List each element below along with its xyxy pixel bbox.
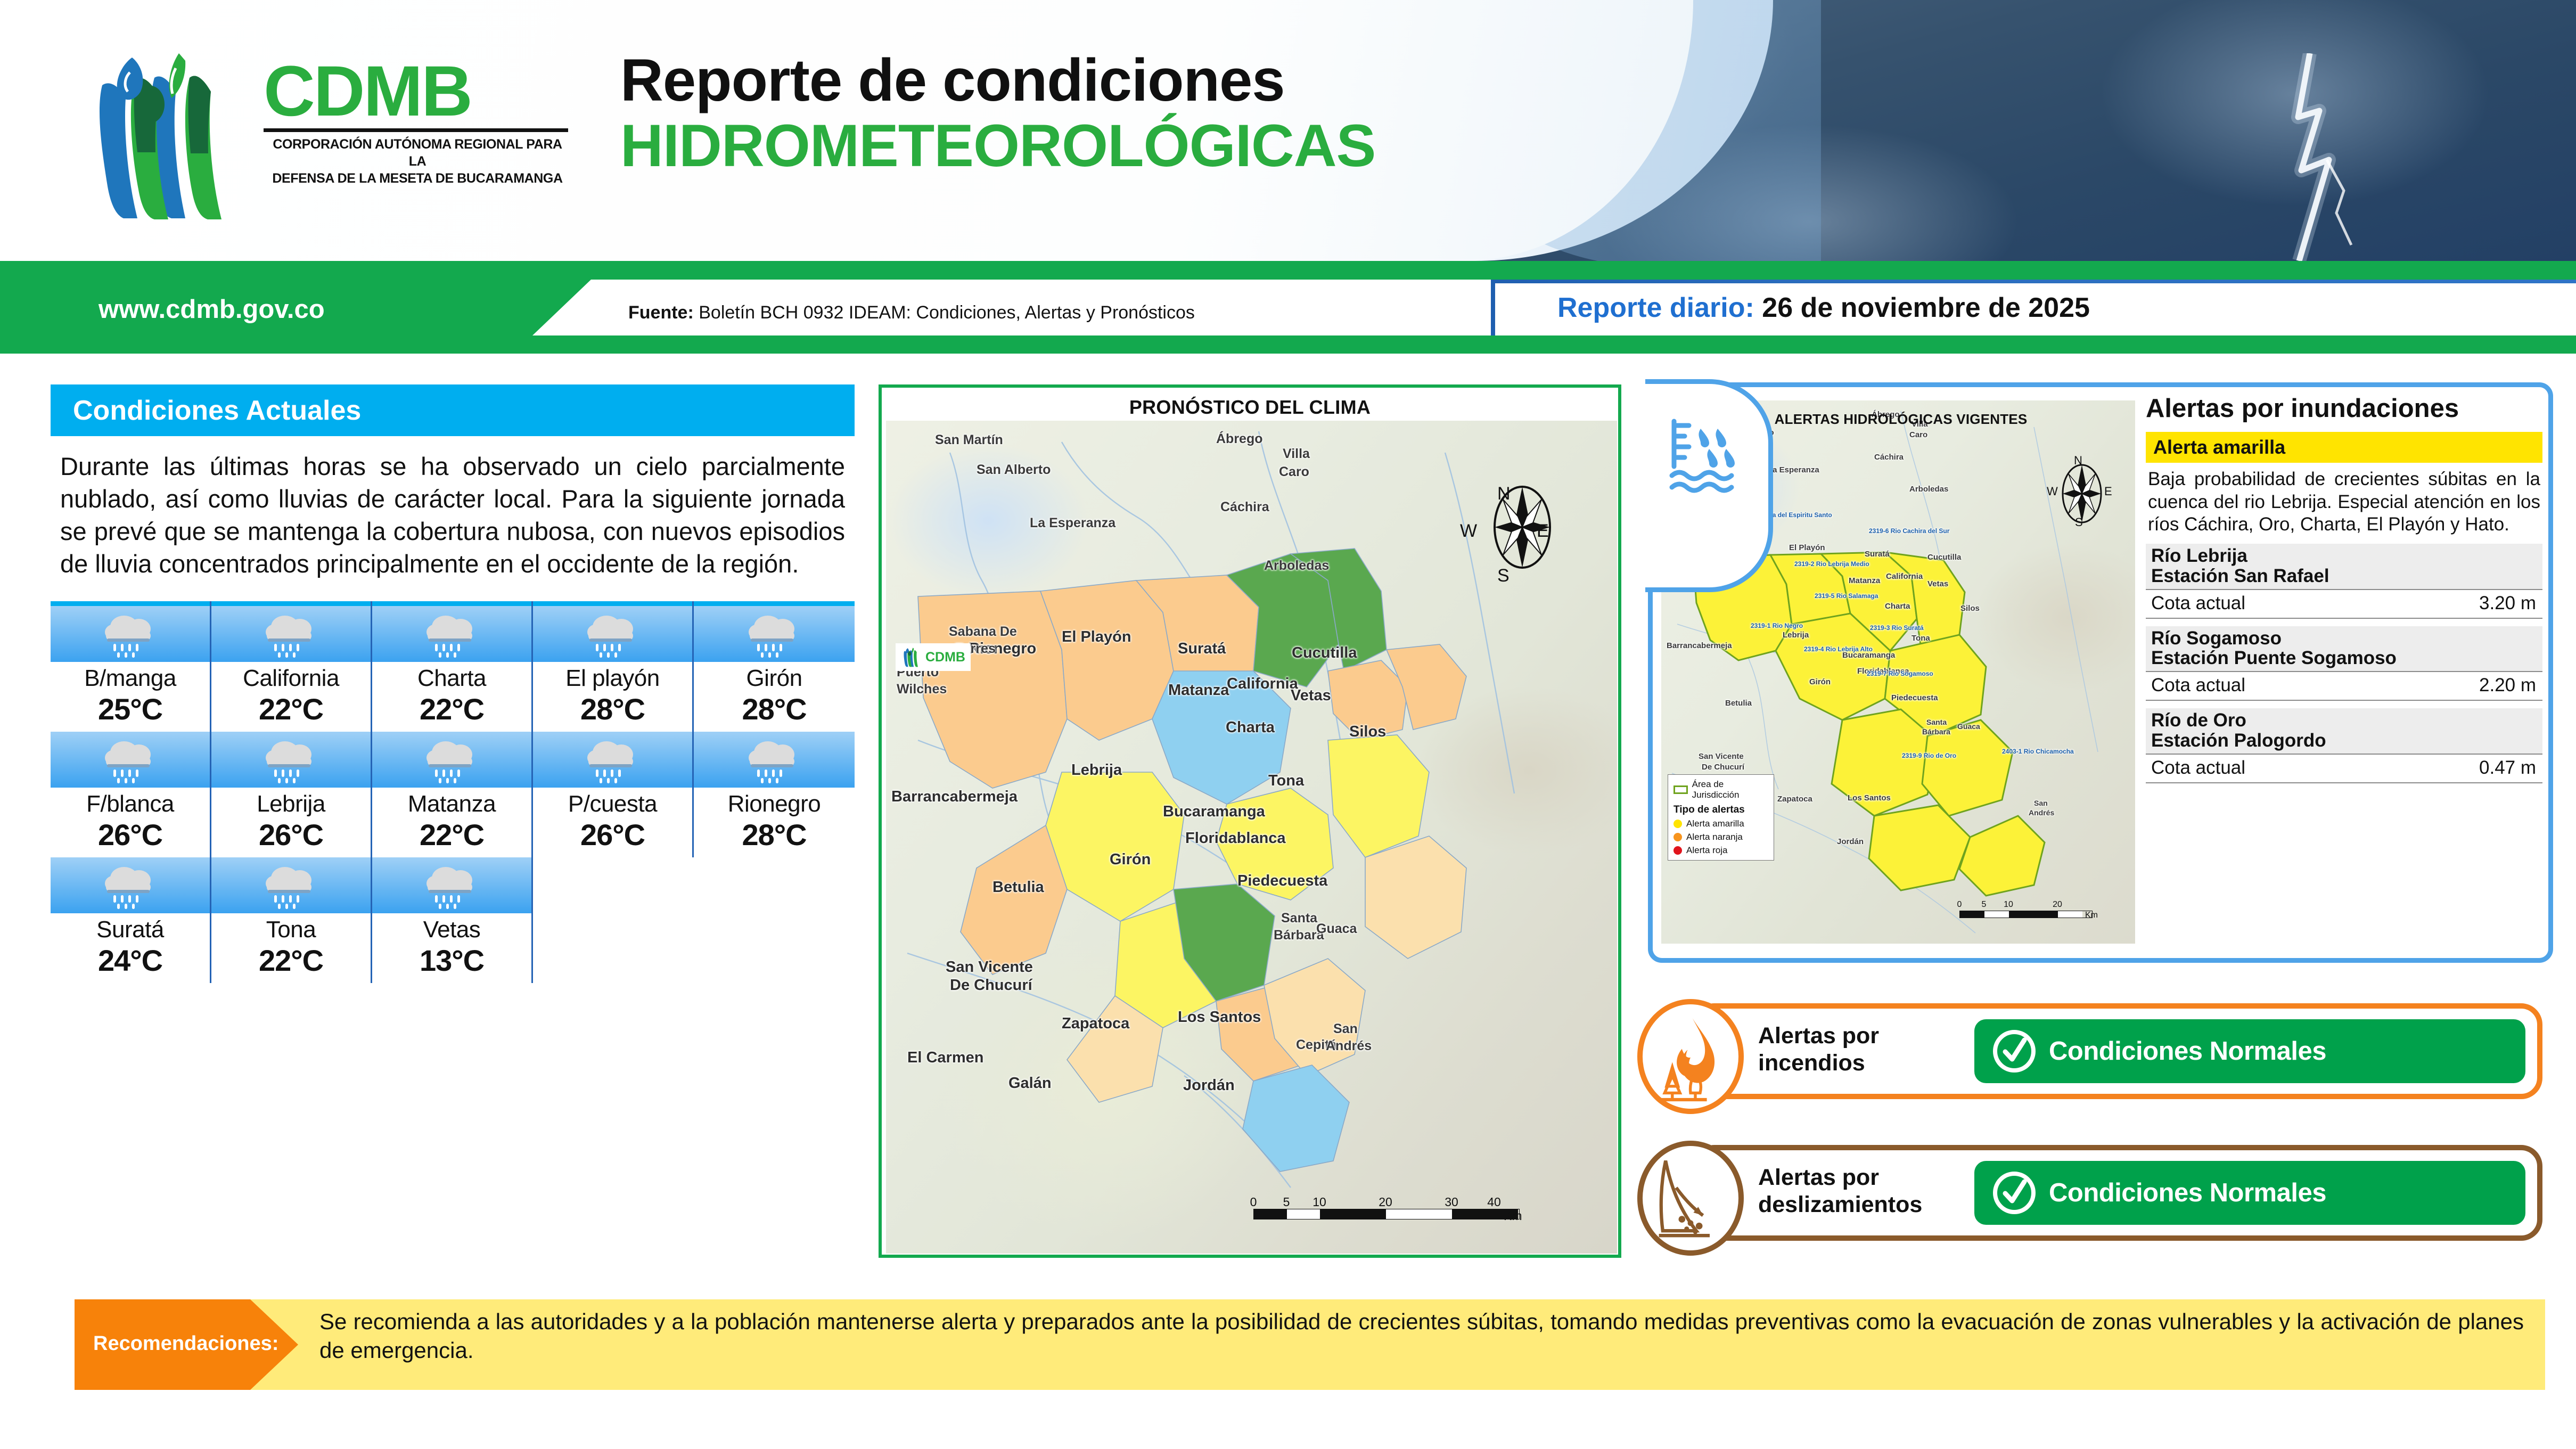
source-text: Boletín BCH 0932 IDEAM: Condiciones, Ale… — [699, 302, 1195, 323]
temperature-cell[interactable]: Lebrija26°C — [211, 732, 372, 857]
map-label: Arboledas — [1909, 485, 1948, 494]
rain-cloud-icon — [102, 862, 159, 909]
map-label: Girón — [1809, 677, 1831, 686]
logo-subtitle-line2: DEFENSA DE LA MESETA DE BUCARAMANGA — [264, 170, 571, 187]
report-date-label: Reporte diario: — [1557, 292, 1754, 323]
map-label: Tona — [1268, 772, 1304, 790]
cdmb-logo-mark — [75, 47, 258, 223]
temperature-row: B/manga25°C California22°C Charta22°C El… — [51, 601, 855, 732]
temperature-cell[interactable]: Charta22°C — [372, 601, 533, 732]
river-name: Río Lebrija — [2151, 546, 2537, 566]
map-label: Lebrija — [1783, 631, 1809, 640]
temperature-value: 22°C — [211, 943, 371, 983]
map-label: San Martín — [935, 432, 1003, 448]
map-label: Caro — [1909, 430, 1927, 439]
map-label: Sabana De — [949, 624, 1017, 640]
scale-tick: 10 — [2004, 900, 2013, 910]
map-label: Los Santos — [1178, 1009, 1261, 1026]
climate-forecast-map[interactable]: PRONÓSTICO DEL CLIMA — [879, 384, 1621, 1258]
basin-label: 2319-1 Rio Negro — [1751, 622, 1803, 629]
cdmb-logo: CDMB CORPORACIÓN AUTÓNOMA REGIONAL PARA … — [75, 42, 586, 225]
map-label: Bárbara — [1922, 727, 1950, 736]
temperature-location: Rionegro — [694, 788, 855, 817]
map-label: Vetas — [1927, 579, 1948, 588]
fire-alert-label-line1: Alertas por — [1758, 1022, 1879, 1050]
map-label: Cáchira — [1874, 453, 1904, 462]
landslide-status-badge: Condiciones Normales — [1974, 1161, 2525, 1225]
rain-cloud-icon — [262, 736, 320, 783]
river-station-block: Río Sogamoso Estación Puente Sogamoso Co… — [2146, 626, 2542, 701]
flood-alert-description: Baja probabilidad de crecientes súbitas … — [2146, 463, 2542, 536]
landslide-alert-label-line2: deslizamientos — [1758, 1191, 1922, 1218]
scale-tick: 10 — [1312, 1195, 1326, 1209]
temperature-value: 28°C — [694, 692, 855, 732]
map-label: Caro — [1279, 464, 1309, 480]
map-label: Galán — [1008, 1075, 1052, 1092]
river-metric-value: 0.47 m — [2479, 757, 2536, 779]
temperature-cell-empty — [533, 857, 694, 983]
map-label: Villa — [1283, 446, 1310, 462]
climate-map-title: PRONÓSTICO DEL CLIMA — [882, 388, 1618, 424]
temperature-location: Lebrija — [211, 788, 371, 817]
legend-types-title: Tipo de alertas — [1673, 804, 1768, 816]
compass-e-label: E — [2104, 485, 2112, 498]
map-label: Andrés — [2029, 808, 2054, 817]
map-label: Guaca — [1316, 921, 1357, 937]
map-label: California — [1227, 675, 1298, 693]
river-station: Estación Puente Sogamoso — [2151, 648, 2537, 668]
temperature-cell[interactable]: Tona22°C — [211, 857, 372, 983]
temperature-value: 22°C — [372, 692, 531, 732]
map-label: El Playón — [1062, 628, 1131, 646]
landslide-alert-label: Alertas por deslizamientos — [1758, 1164, 1922, 1218]
report-date-value: 26 de noviembre de 2025 — [1762, 292, 2090, 323]
scale-tick: 5 — [1982, 900, 1987, 910]
check-circle-icon — [1991, 1028, 2037, 1074]
map-label: Charta — [1885, 602, 1910, 611]
map-label: Lebrija — [1071, 762, 1122, 779]
map-label: Tona — [1912, 634, 1930, 643]
map-label: Andrés — [1326, 1038, 1372, 1054]
temperature-location: P/cuesta — [533, 788, 692, 817]
recommendations-text: Se recomienda a las autoridades y a la p… — [319, 1307, 2524, 1365]
map-label: Betulia — [1725, 699, 1752, 708]
title-line-1: Reporte de condiciones — [620, 51, 1375, 110]
temperature-value: 22°C — [372, 817, 531, 857]
landslide-icon-circle — [1637, 1141, 1744, 1256]
map-label: California — [1886, 572, 1923, 581]
map-label: La Esperanza — [1768, 465, 1819, 474]
temperature-value: 26°C — [51, 817, 210, 857]
temperature-cell[interactable]: B/manga25°C — [51, 601, 211, 732]
temperature-cell-empty — [694, 857, 855, 983]
legend-dot-red-icon — [1673, 846, 1682, 855]
temperature-location: Girón — [694, 662, 855, 692]
basin-label: 2319-2 Rio Lebrija Medio — [1794, 560, 1869, 568]
scale-unit: Km — [1504, 1209, 1522, 1223]
map-label: Charta — [1226, 719, 1275, 736]
fire-icon — [1643, 1004, 1738, 1109]
map-label: Barrancabermeja — [891, 788, 1018, 806]
map-label: Matanza — [1168, 682, 1229, 699]
fire-alert-label-line2: incendios — [1758, 1050, 1879, 1077]
hydro-map-legend: Área de Jurisdicción Tipo de alertas Ale… — [1668, 774, 1774, 861]
scale-tick: 20 — [2053, 900, 2062, 910]
temperature-value: 26°C — [533, 817, 692, 857]
river-metric-label: Cota actual — [2151, 675, 2245, 696]
temperature-value: 24°C — [51, 943, 210, 983]
temperature-row: F/blanca26°C Lebrija26°C Matanza22°C P/c… — [51, 732, 855, 857]
map-label: Suratá — [1865, 550, 1890, 559]
temperature-value: 13°C — [372, 943, 531, 983]
temperature-cell[interactable]: Suratá24°C — [51, 857, 211, 983]
temperature-cell[interactable]: F/blanca26°C — [51, 732, 211, 857]
basin-label: 2319-5 Rio Salamaga — [1815, 592, 1878, 600]
temperature-cell[interactable]: Matanza22°C — [372, 732, 533, 857]
map-label: Zapatoca — [1062, 1015, 1129, 1033]
river-station-block: Río Lebrija Estación San Rafael Cota act… — [2146, 544, 2542, 619]
page-title: Reporte de condiciones HIDROMETEOROLÓGIC… — [620, 51, 1375, 177]
scale-tick: 0 — [1250, 1195, 1257, 1209]
report-date: Reporte diario: 26 de noviembre de 2025 — [1557, 292, 2090, 324]
flood-alerts-panel: Alertas por inundaciones Alerta amarilla… — [2146, 394, 2542, 783]
river-station-block: Río de Oro Estación Palogordo Cota actua… — [2146, 708, 2542, 783]
temperature-location: B/manga — [51, 662, 210, 692]
scale-tick: 40 — [1487, 1195, 1501, 1209]
temperature-row: Suratá24°C Tona22°C Vetas13°C — [51, 857, 855, 983]
map-label: Santa — [1281, 911, 1317, 926]
basin-label: 2319-9 Rio de Oro — [1902, 752, 1956, 759]
temperature-cell[interactable]: California22°C — [211, 601, 372, 732]
map-label: Betulia — [992, 879, 1044, 896]
fire-icon-circle — [1637, 999, 1744, 1114]
map-label: Ábrego — [1216, 431, 1263, 447]
temperature-cell[interactable]: Rionegro28°C — [694, 732, 855, 857]
map-label: Floridablanca — [1185, 830, 1286, 847]
map-label: Cucutilla — [1292, 644, 1357, 662]
rain-cloud-icon — [423, 862, 481, 909]
map-label: Silos — [1960, 604, 1980, 613]
info-bar-bottom-rule — [0, 349, 2576, 354]
rain-cloud-icon — [745, 611, 803, 658]
river-metric-value: 2.20 m — [2479, 675, 2536, 696]
temperature-cell[interactable]: P/cuesta26°C — [533, 732, 694, 857]
climate-map-cdmb-logo: CDMB — [896, 643, 971, 671]
legend-jurisdiction-label: Área de Jurisdicción — [1692, 779, 1768, 800]
temperature-location: Matanza — [372, 788, 531, 817]
compass-n-label: N — [2074, 454, 2082, 468]
rain-cloud-icon — [584, 611, 642, 658]
map-label: Barrancabermeja — [1667, 641, 1732, 650]
map-label: Suratá — [1178, 640, 1226, 658]
current-conditions-header: Condiciones Actuales — [51, 384, 855, 436]
temperature-location: El playón — [533, 662, 692, 692]
map-label: Jordán — [1837, 837, 1864, 846]
map-label: Jordán — [1183, 1077, 1235, 1094]
hydro-map-scalebar: 0 5 10 20 Km — [1959, 900, 2093, 918]
rain-cloud-icon — [584, 736, 642, 783]
rain-cloud-icon — [745, 736, 803, 783]
temperature-cell[interactable]: Vetas13°C — [372, 857, 533, 983]
river-metric-label: Cota actual — [2151, 593, 2245, 614]
current-conditions-text: Durante las últimas horas se ha observad… — [51, 436, 855, 580]
landslide-icon — [1643, 1146, 1738, 1250]
fire-alert-pill[interactable]: Alertas por incendios Condiciones Normal… — [1693, 1003, 2542, 1099]
rain-cloud-icon — [102, 611, 159, 658]
temperature-location: California — [211, 662, 371, 692]
temperature-location: F/blanca — [51, 788, 210, 817]
website-url[interactable]: www.cdmb.gov.co — [99, 294, 325, 324]
map-label: Matanza — [1849, 576, 1880, 585]
rain-cloud-icon — [423, 736, 481, 783]
scale-tick: 5 — [1283, 1195, 1290, 1209]
river-metric-label: Cota actual — [2151, 757, 2245, 779]
recommendations-tag-label: Recomendaciones: — [93, 1332, 278, 1355]
fire-status-text: Condiciones Normales — [2049, 1036, 2326, 1066]
scale-tick: 0 — [1957, 900, 1962, 910]
temperature-location: Vetas — [372, 913, 531, 943]
source-label: Fuente: — [628, 302, 694, 323]
rain-cloud-icon — [102, 736, 159, 783]
rain-cloud-icon — [262, 862, 320, 909]
map-label: El Playón — [1789, 543, 1825, 552]
legend-item-label: Alerta naranja — [1686, 832, 1743, 842]
source-line: Fuente: Boletín BCH 0932 IDEAM: Condicio… — [628, 302, 1195, 323]
temperature-location: Tona — [211, 913, 371, 943]
basin-label: 2403-1 Rio Chicamocha — [2002, 748, 2074, 755]
map-label: La Esperanza — [1030, 515, 1115, 531]
recommendations-tag: Recomendaciones: — [75, 1299, 298, 1390]
check-circle-icon — [1991, 1170, 2037, 1216]
jurisdiction-swatch — [1673, 785, 1688, 794]
flood-alert-level-badge: Alerta amarilla — [2146, 432, 2542, 463]
compass-w-label: W — [1460, 521, 1477, 542]
map-label: Silos — [1349, 723, 1386, 741]
map-label: Vetas — [1291, 687, 1331, 705]
river-metric-value: 3.20 m — [2479, 593, 2536, 614]
basin-label: 2319-6 Rio Cachira del Sur — [1869, 527, 1949, 535]
flood-alerts-title: Alertas por inundaciones — [2146, 394, 2542, 423]
temperature-value: 26°C — [211, 817, 371, 857]
map-label: El Carmen — [907, 1049, 983, 1067]
river-name: Río de Oro — [2151, 710, 2537, 731]
map-label: Santa — [1926, 718, 1947, 726]
compass-s-label: S — [1497, 566, 1509, 586]
temperature-value: 25°C — [51, 692, 210, 732]
compass-s-label: S — [2075, 515, 2083, 529]
logo-acronym: CDMB — [264, 58, 583, 125]
temperature-cell[interactable]: Girón28°C — [694, 601, 855, 732]
landslide-alert-pill[interactable]: Alertas por deslizamientos Condiciones N… — [1693, 1145, 2542, 1241]
compass-w-label: W — [2047, 485, 2058, 498]
map-label: Piedecuesta — [1891, 693, 1938, 702]
map-label: San Vicente — [946, 959, 1033, 976]
legend-item-label: Alerta amarilla — [1686, 818, 1744, 829]
title-line-2: HIDROMETEOROLÓGICAS — [620, 114, 1375, 177]
compass-e-label: E — [1537, 521, 1549, 542]
temperature-value: 28°C — [533, 692, 692, 732]
climate-map-logo-text: CDMB — [925, 651, 965, 664]
map-label: Zapatoca — [1777, 795, 1812, 804]
scale-tick: 20 — [1379, 1195, 1392, 1209]
map-label: Los Santos — [1848, 793, 1891, 803]
current-conditions-panel: Condiciones Actuales Durante las últimas… — [51, 384, 855, 983]
climate-map-canvas: San Martín San Alberto Ábrego Villa Caro… — [886, 421, 1617, 1254]
map-label: Cucutilla — [1927, 553, 1961, 562]
river-station: Estación Palogordo — [2151, 731, 2537, 751]
hydro-map-title: ALERTAS HIDROLÓGICAS VIGENTES — [1714, 411, 2087, 428]
map-label: Bucaramanga — [1163, 803, 1265, 821]
current-conditions-title: Condiciones Actuales — [73, 395, 361, 427]
rain-cloud-icon — [423, 611, 481, 658]
map-label: De Chucurí — [950, 977, 1032, 994]
basin-label: 2319-4 Rio Lebrija Alto — [1804, 645, 1873, 653]
landslide-alert-label-line1: Alertas por — [1758, 1164, 1922, 1191]
legend-dot-orange-icon — [1673, 833, 1682, 841]
river-name: Río Sogamoso — [2151, 628, 2537, 649]
legend-item-label: Alerta roja — [1686, 845, 1727, 856]
map-label: Wilches — [897, 682, 947, 697]
map-label: De Chucurí — [1702, 763, 1744, 772]
compass-rose-icon — [2063, 465, 2101, 522]
map-label: Guaca — [1957, 722, 1980, 731]
map-label: San — [2034, 799, 2048, 807]
temperature-value: 22°C — [211, 692, 371, 732]
basin-label: 2319-3 Rio Suratá — [1870, 624, 1924, 632]
compass-n-label: N — [1497, 484, 1511, 504]
map-label: San Alberto — [977, 462, 1051, 478]
page-header: CDMB CORPORACIÓN AUTÓNOMA REGIONAL PARA … — [0, 0, 2576, 261]
basin-label: 2319-7 Rio Sogamoso — [1867, 670, 1933, 677]
temperature-cell[interactable]: El playón28°C — [533, 601, 694, 732]
map-label: San Vicente — [1699, 752, 1744, 761]
scale-unit: Km — [2085, 911, 2098, 920]
map-label: Arboledas — [1264, 558, 1329, 574]
rain-cloud-icon — [262, 611, 320, 658]
cdmb-logo-mark-small — [901, 646, 922, 668]
map-label: Piedecuesta — [1237, 872, 1327, 890]
lightning-icon — [2278, 53, 2368, 261]
logo-subtitle-line1: CORPORACIÓN AUTÓNOMA REGIONAL PARA LA — [264, 136, 571, 170]
climate-map-scalebar: 0 5 10 20 30 40 Km — [1253, 1195, 1520, 1219]
fire-alert-label: Alertas por incendios — [1758, 1022, 1879, 1076]
water-level-icon — [1664, 416, 1744, 496]
fire-status-badge: Condiciones Normales — [1974, 1019, 2525, 1083]
temperature-grid: B/manga25°C California22°C Charta22°C El… — [51, 601, 855, 983]
map-label: San — [1333, 1021, 1358, 1037]
temperature-location: Charta — [372, 662, 531, 692]
temperature-location: Suratá — [51, 913, 210, 943]
legend-dot-yellow-icon — [1673, 820, 1682, 828]
map-label: Cáchira — [1220, 500, 1269, 515]
map-label: Girón — [1110, 851, 1151, 869]
scale-tick: 30 — [1445, 1195, 1458, 1209]
temperature-value: 28°C — [694, 817, 855, 857]
landslide-status-text: Condiciones Normales — [2049, 1178, 2326, 1208]
river-station: Estación San Rafael — [2151, 566, 2537, 586]
